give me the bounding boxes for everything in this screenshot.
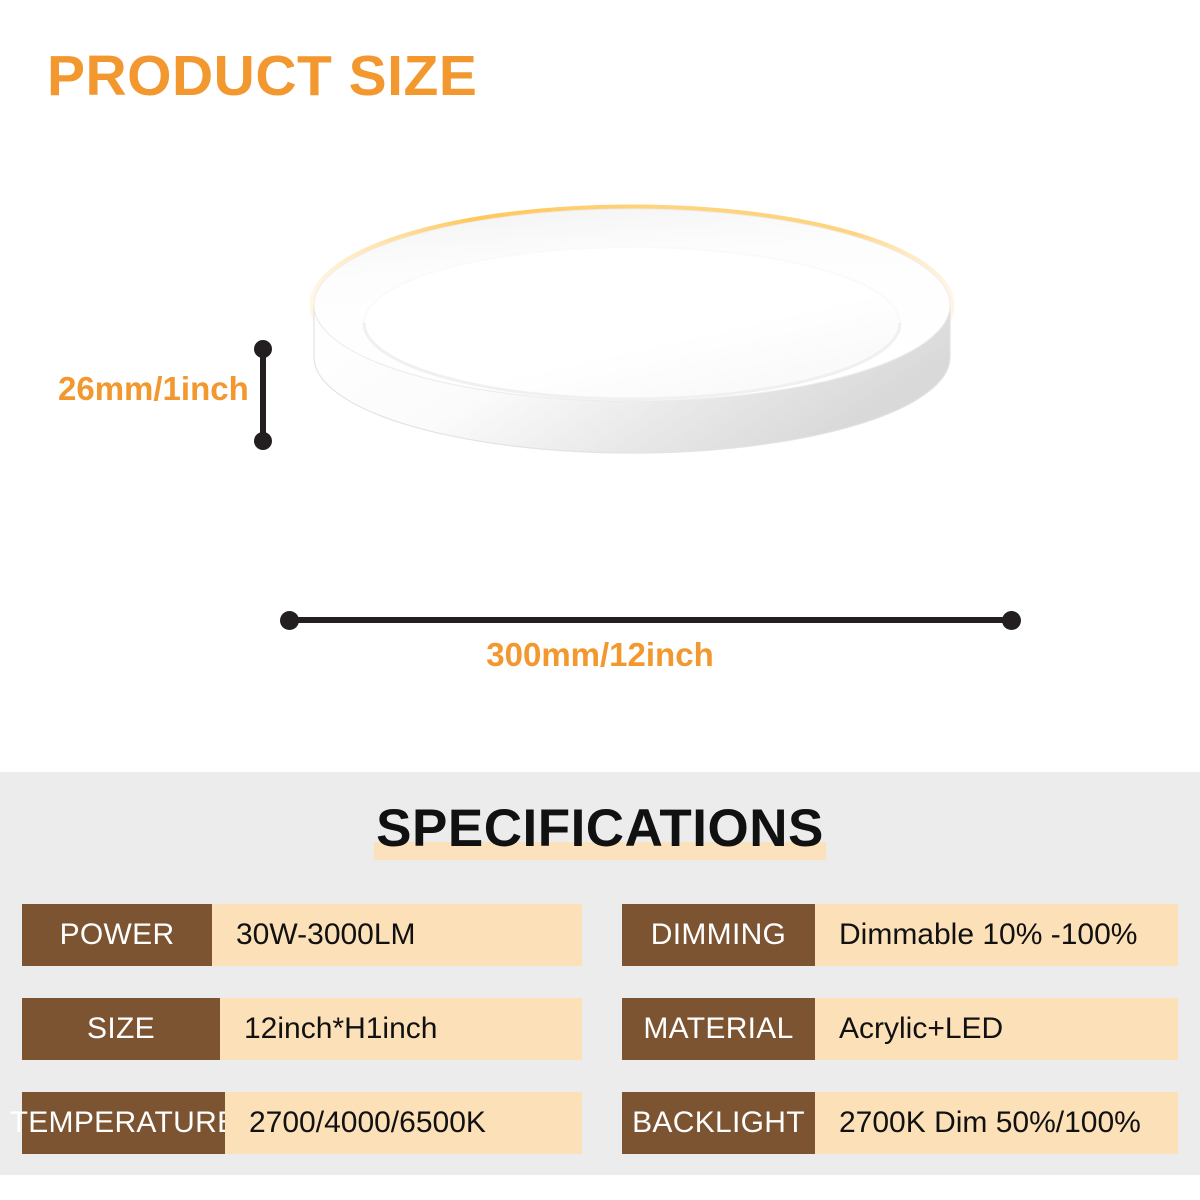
spec-label-power: POWER [22, 904, 212, 966]
spec-value-size: 12inch*H1inch [220, 998, 582, 1060]
spec-label-temperature: TEMPERATURE [22, 1092, 225, 1154]
spec-value-temperature: 2700/4000/6500K [225, 1092, 582, 1154]
width-dimension-line [289, 617, 1011, 623]
spec-row: SIZE 12inch*H1inch MATERIAL Acrylic+LED [0, 998, 1200, 1092]
specifications-heading: SPECIFICATIONS [372, 802, 828, 855]
spec-item-temperature: TEMPERATURE 2700/4000/6500K [22, 1092, 582, 1154]
specifications-grid: POWER 30W-3000LM DIMMING Dimmable 10% -1… [0, 904, 1200, 1186]
round-led-ceiling-light-icon [280, 195, 1010, 575]
spec-item-size: SIZE 12inch*H1inch [22, 998, 582, 1060]
specifications-section: SPECIFICATIONS POWER 30W-3000LM DIMMING … [0, 772, 1200, 1175]
height-dimension-line [260, 348, 266, 442]
spec-item-backlight: BACKLIGHT 2700K Dim 50%/100% [622, 1092, 1178, 1154]
width-dimension-dot-right [1002, 611, 1021, 630]
bottom-white-strip [0, 1175, 1200, 1200]
spec-value-power: 30W-3000LM [212, 904, 582, 966]
spec-label-backlight: BACKLIGHT [622, 1092, 815, 1154]
spec-value-backlight: 2700K Dim 50%/100% [815, 1092, 1178, 1154]
height-dimension-dot-bottom [254, 432, 272, 450]
spec-label-size: SIZE [22, 998, 220, 1060]
width-dimension-label: 300mm/12inch [0, 638, 1200, 671]
spec-item-material: MATERIAL Acrylic+LED [622, 998, 1178, 1060]
spec-label-material: MATERIAL [622, 998, 815, 1060]
page-title: PRODUCT SIZE [47, 48, 477, 105]
spec-value-dimming: Dimmable 10% -100% [815, 904, 1178, 966]
spec-row: TEMPERATURE 2700/4000/6500K BACKLIGHT 27… [0, 1092, 1200, 1186]
specifications-heading-wrap: SPECIFICATIONS [0, 802, 1200, 877]
height-dimension-label: 26mm/1inch [58, 372, 249, 405]
spec-value-material: Acrylic+LED [815, 998, 1178, 1060]
spec-item-dimming: DIMMING Dimmable 10% -100% [622, 904, 1178, 966]
spec-label-dimming: DIMMING [622, 904, 815, 966]
spec-row: POWER 30W-3000LM DIMMING Dimmable 10% -1… [0, 904, 1200, 998]
product-size-section: PRODUCT SIZE [0, 0, 1200, 772]
spec-item-power: POWER 30W-3000LM [22, 904, 582, 966]
